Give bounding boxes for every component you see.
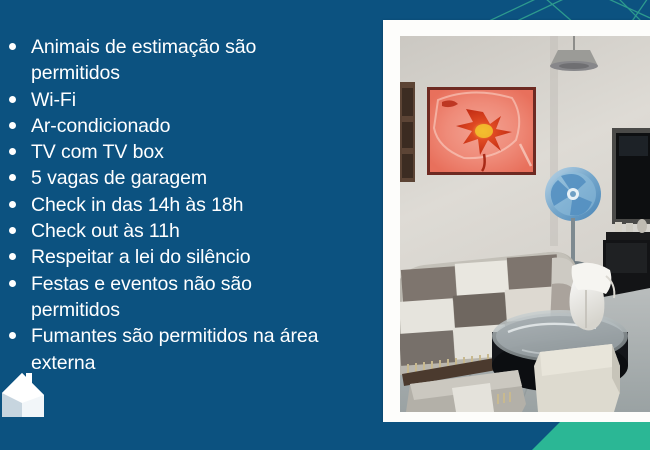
living-room-photo bbox=[400, 36, 650, 412]
bullet-dot-icon bbox=[9, 43, 16, 50]
list-item-label: Ar-condicionado bbox=[31, 113, 340, 139]
list-item: Festas e eventos não são permitidos bbox=[0, 271, 340, 324]
list-item-label: Fumantes são permitidos na área externa bbox=[31, 323, 340, 376]
list-item-label: Wi-Fi bbox=[31, 87, 340, 113]
list-item-label: Animais de estimação são permitidos bbox=[31, 34, 340, 87]
list-item: Wi-Fi bbox=[0, 87, 340, 113]
bullet-dot-icon bbox=[9, 174, 16, 181]
bullet-dot-icon bbox=[9, 201, 16, 208]
bottom-decoration-bar bbox=[0, 422, 650, 450]
list-item: Respeitar a lei do silêncio bbox=[0, 244, 340, 270]
list-item: Check out às 11h bbox=[0, 218, 340, 244]
house-icon bbox=[0, 373, 52, 421]
bullet-dot-icon bbox=[9, 122, 16, 129]
house-logo bbox=[0, 373, 52, 421]
list-item-label: Festas e eventos não são permitidos bbox=[31, 271, 340, 324]
list-item: 5 vagas de garagem bbox=[0, 165, 340, 191]
rules-bullet-list: Animais de estimação são permitidos Wi-F… bbox=[0, 34, 340, 376]
list-item-label: 5 vagas de garagem bbox=[31, 165, 340, 191]
list-item-label: TV com TV box bbox=[31, 139, 340, 165]
bullet-dot-icon bbox=[9, 148, 16, 155]
list-item-label: Check in das 14h às 18h bbox=[31, 192, 340, 218]
list-item-label: Respeitar a lei do silêncio bbox=[31, 244, 340, 270]
presentation-slide: Animais de estimação são permitidos Wi-F… bbox=[0, 0, 650, 450]
bullet-dot-icon bbox=[9, 253, 16, 260]
living-room-photo-graphic bbox=[400, 36, 650, 412]
bullet-dot-icon bbox=[9, 227, 16, 234]
list-item: Animais de estimação são permitidos bbox=[0, 34, 340, 87]
bullet-dot-icon bbox=[9, 280, 16, 287]
list-item: Fumantes são permitidos na área externa bbox=[0, 323, 340, 376]
list-item: Ar-condicionado bbox=[0, 113, 340, 139]
bullet-dot-icon bbox=[9, 332, 16, 339]
bottom-bar-svg bbox=[0, 422, 650, 450]
bullet-dot-icon bbox=[9, 96, 16, 103]
list-item-label: Check out às 11h bbox=[31, 218, 340, 244]
list-item: TV com TV box bbox=[0, 139, 340, 165]
list-item: Check in das 14h às 18h bbox=[0, 192, 340, 218]
photo-frame bbox=[383, 20, 650, 423]
